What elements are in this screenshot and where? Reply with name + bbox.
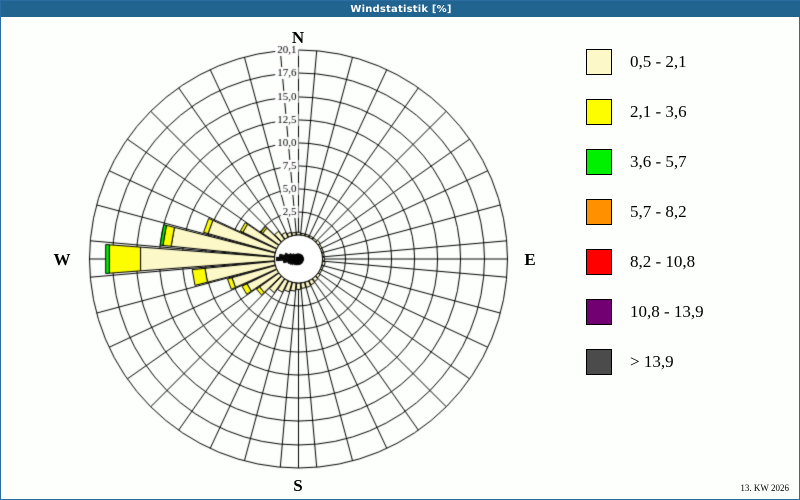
legend-swatch-icon	[586, 149, 612, 175]
legend-item: 10,8 - 13,9	[586, 287, 791, 337]
windstatistik-window: Windstatistik [%] N S W E 0,5 - 2,1 2,1 …	[0, 0, 800, 500]
week-stamp: 13. KW 2026	[740, 483, 789, 493]
legend-item: 2,1 - 3,6	[586, 87, 791, 137]
legend-item: > 13,9	[586, 337, 791, 387]
legend-item: 0,5 - 2,1	[586, 37, 791, 87]
legend-item: 3,6 - 5,7	[586, 137, 791, 187]
compass-label-north: N	[277, 29, 319, 46]
legend-item-label: 10,8 - 13,9	[630, 302, 704, 322]
legend-item: 8,2 - 10,8	[586, 237, 791, 287]
legend-swatch-icon	[586, 199, 612, 225]
legend: 0,5 - 2,1 2,1 - 3,6 3,6 - 5,7 5,7 - 8,2 …	[586, 37, 791, 387]
legend-item-label: 3,6 - 5,7	[630, 152, 687, 172]
legend-swatch-icon	[586, 49, 612, 75]
legend-item-label: 5,7 - 8,2	[630, 202, 687, 222]
legend-item: 5,7 - 8,2	[586, 187, 791, 237]
legend-item-label: 0,5 - 2,1	[630, 52, 687, 72]
legend-swatch-icon	[586, 349, 612, 375]
compass-label-south: S	[277, 477, 319, 494]
legend-item-label: 2,1 - 3,6	[630, 102, 687, 122]
windrose-canvas	[1, 18, 573, 500]
window-title: Windstatistik [%]	[350, 4, 451, 15]
compass-label-east: E	[509, 251, 551, 268]
windrose-plot-area	[1, 18, 573, 500]
window-titlebar: Windstatistik [%]	[1, 1, 800, 17]
compass-label-west: W	[41, 251, 83, 268]
legend-swatch-icon	[586, 249, 612, 275]
legend-item-label: > 13,9	[630, 352, 674, 372]
legend-swatch-icon	[586, 99, 612, 125]
legend-item-label: 8,2 - 10,8	[630, 252, 695, 272]
legend-swatch-icon	[586, 299, 612, 325]
